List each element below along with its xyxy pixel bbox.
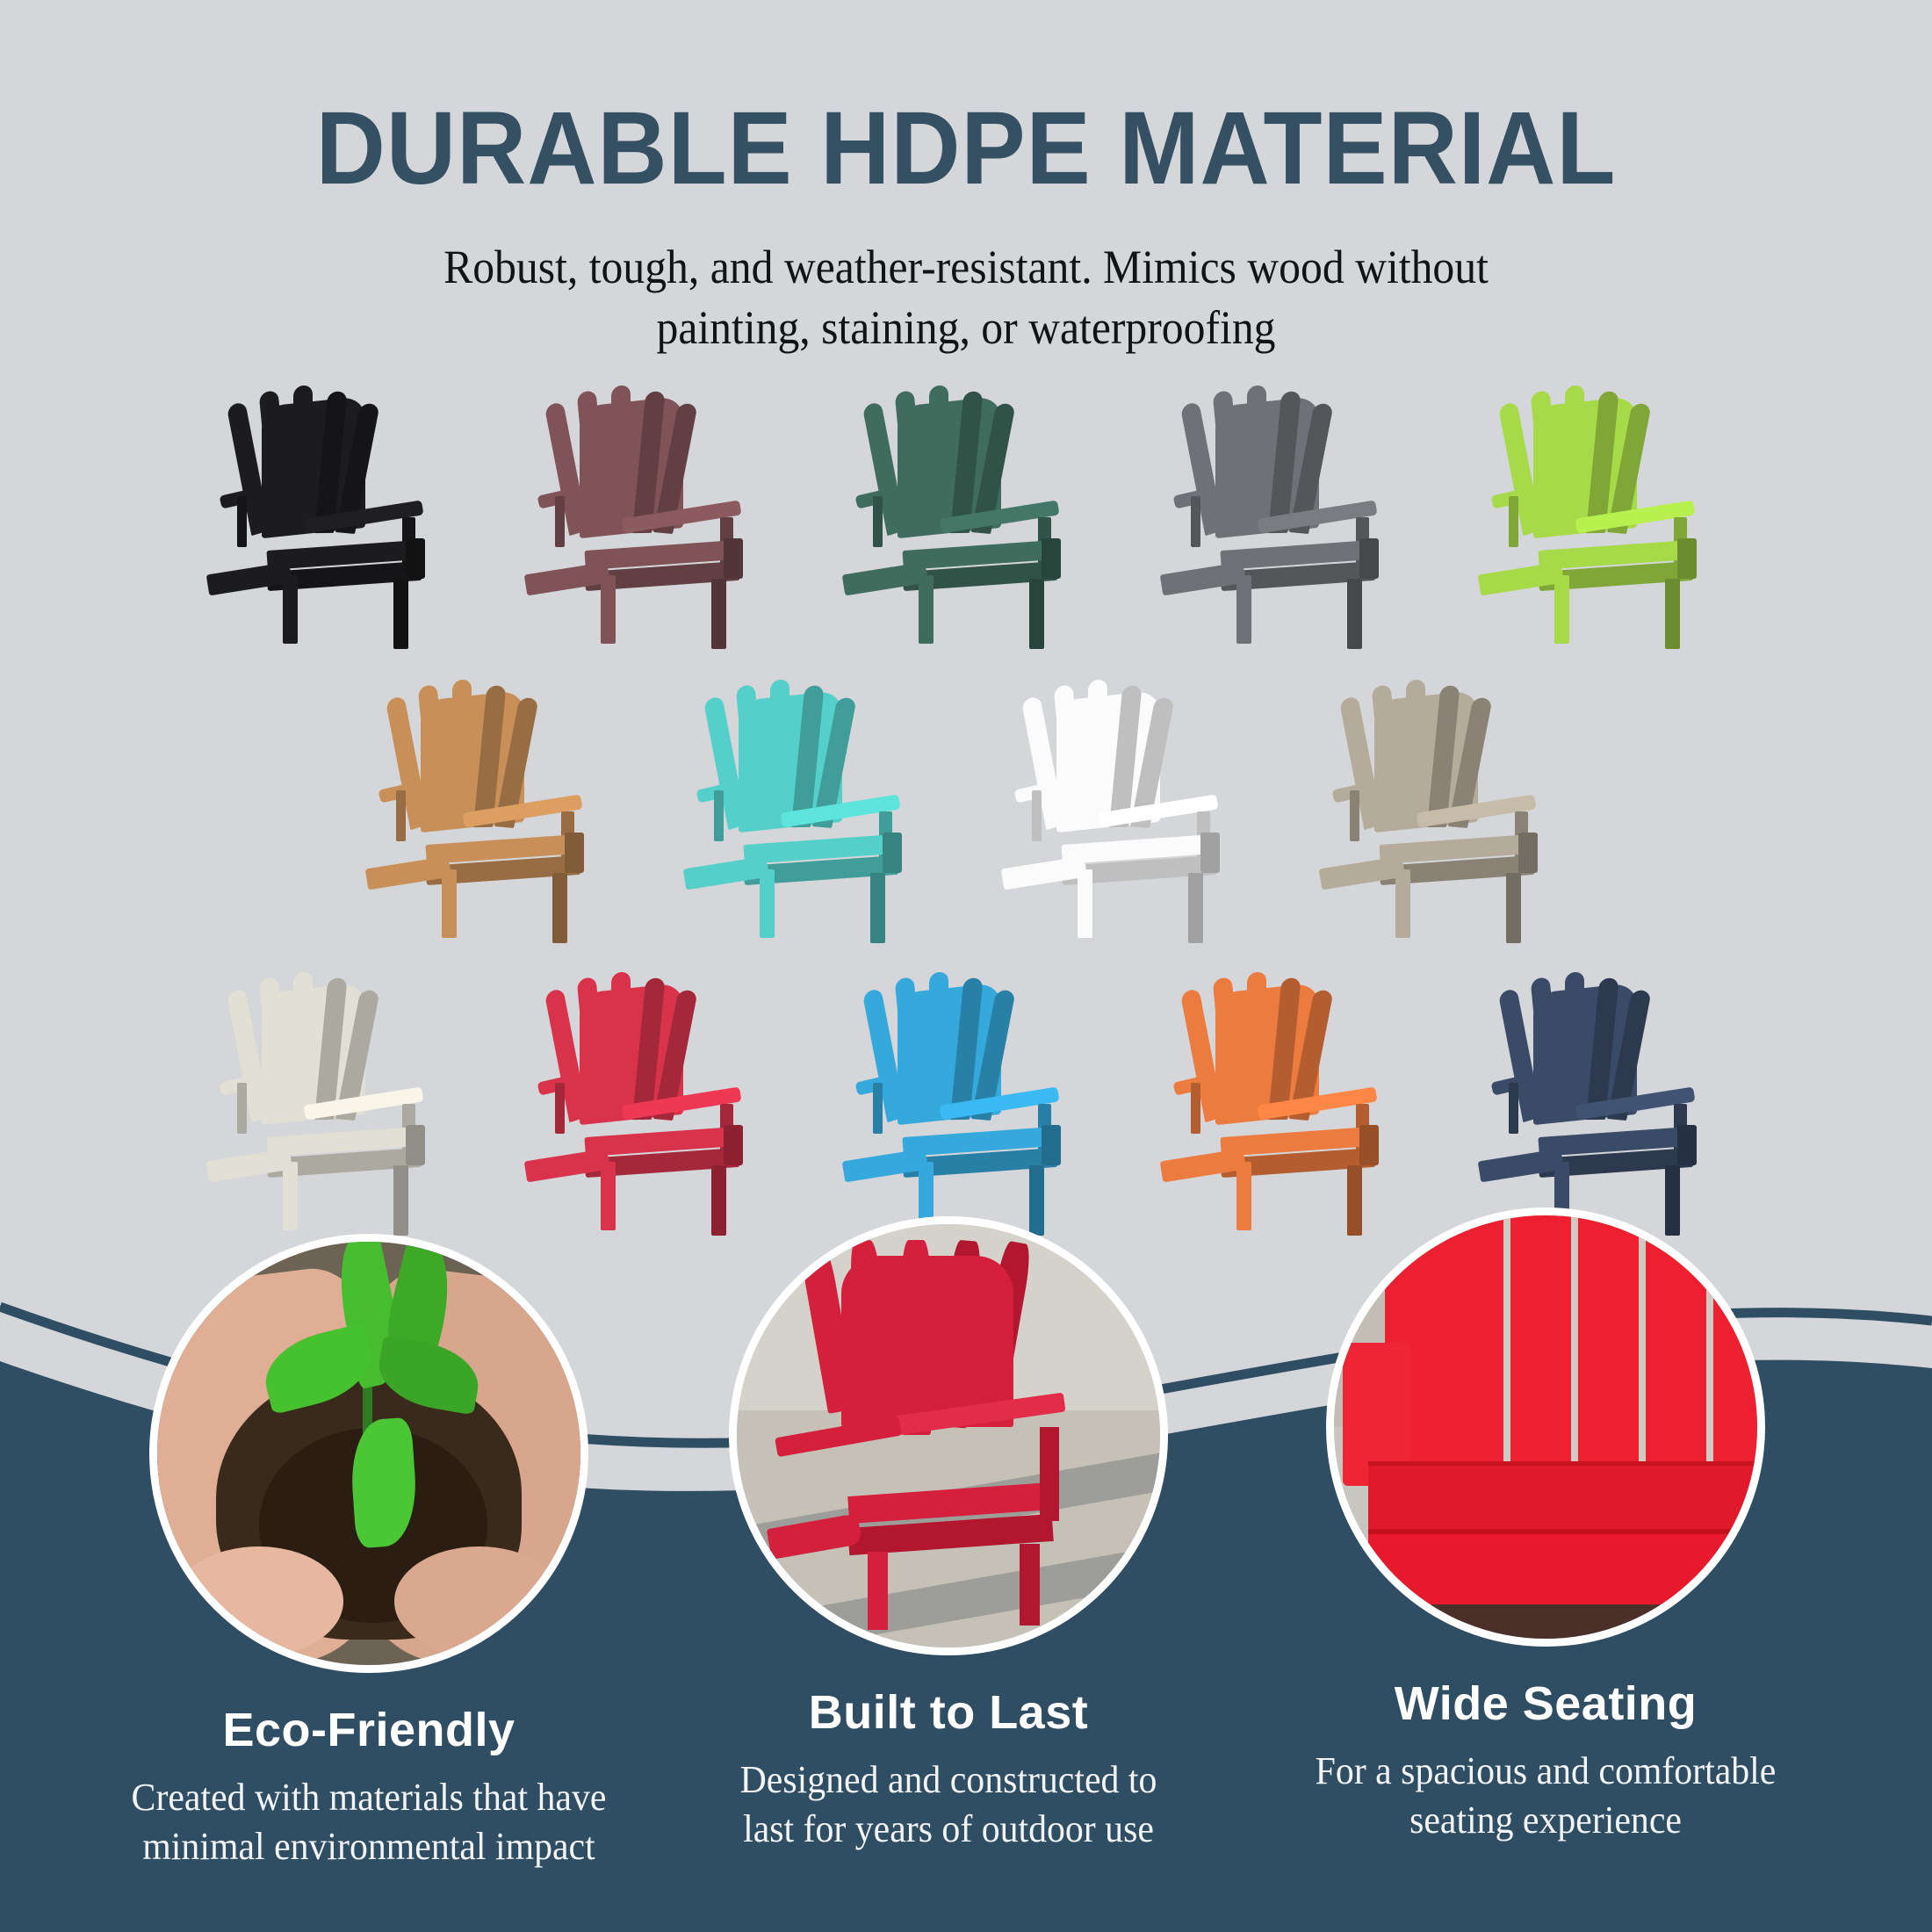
feature-description: Created with materials that have minimal…	[102, 1773, 636, 1872]
chair-back-slat	[1565, 971, 1584, 1121]
chair-swatch-ivory[interactable]	[198, 951, 462, 1215]
chair-back-slat	[611, 385, 631, 534]
chair-swatch-orange[interactable]	[1152, 951, 1416, 1215]
feature-description: Designed and constructed to last for yea…	[681, 1755, 1215, 1855]
chair-arm-support-left	[396, 790, 406, 841]
chair-front-leg	[283, 1162, 298, 1230]
chair-swatch-dark-green[interactable]	[834, 364, 1098, 628]
chair-row-2	[0, 659, 1932, 922]
chair-side-apron	[1042, 1125, 1061, 1165]
chair-back-slat	[611, 971, 631, 1121]
chair-arm-support-left	[237, 1083, 247, 1134]
chair-back-slat	[1406, 679, 1425, 828]
chair-cell-lime-green[interactable]	[1470, 364, 1734, 628]
chair-front-leg	[442, 869, 457, 938]
feature-desc-line-1: Designed and constructed to	[681, 1755, 1215, 1805]
chair-back-slat	[1088, 679, 1107, 828]
photo-chair-back-panel	[841, 1256, 1013, 1427]
chair-rear-leg	[1665, 579, 1680, 649]
chair-cell-orange[interactable]	[1152, 951, 1416, 1215]
chair-folding-runner	[1478, 1149, 1565, 1183]
chair-folding-runner	[1001, 856, 1088, 890]
chair-back-slat	[1247, 385, 1266, 534]
chair-arm-support-left	[237, 496, 247, 547]
chair-side-apron	[1042, 538, 1061, 579]
chair-back-slat	[1565, 385, 1584, 534]
chair-front-leg	[601, 1162, 616, 1230]
page-title: DURABLE HDPE MATERIAL	[68, 97, 1864, 200]
chair-arm-support-left	[1191, 496, 1200, 547]
chair-folding-runner	[842, 1149, 929, 1183]
chair-folding-runner	[1160, 562, 1247, 596]
chair-back-slat	[452, 679, 472, 828]
chair-swatch-white[interactable]	[993, 659, 1257, 922]
feature-photo-red-chair-patio	[729, 1216, 1168, 1655]
chair-cell-white[interactable]	[993, 659, 1257, 922]
chair-folding-runner	[842, 562, 929, 596]
chair-back-slat	[929, 971, 948, 1121]
chair-folding-runner	[365, 856, 452, 890]
chair-swatch-crimson-red[interactable]	[516, 951, 780, 1215]
photo-chair-arm-post	[1040, 1427, 1060, 1520]
chair-side-apron	[1677, 538, 1697, 579]
chair-cell-gray[interactable]	[1152, 364, 1416, 628]
chair-cell-wine-red[interactable]	[516, 364, 780, 628]
chair-back-slat	[1247, 971, 1266, 1121]
chair-arm-support-left	[714, 790, 724, 841]
chair-row-3	[0, 951, 1932, 1215]
chair-rear-leg	[870, 873, 885, 943]
chair-cell-navy-blue[interactable]	[1470, 951, 1734, 1215]
chair-side-apron	[883, 833, 902, 873]
chair-front-leg	[1236, 575, 1251, 644]
chair-folding-runner	[683, 856, 770, 890]
feature-title: Eco-Friendly	[88, 1703, 650, 1757]
header: DURABLE HDPE MATERIAL Robust, tough, and…	[0, 0, 1932, 358]
chair-cell-crimson-red[interactable]	[516, 951, 780, 1215]
chair-cell-black[interactable]	[198, 364, 462, 628]
subtitle-line-1: Robust, tough, and weather-resistant. Mi…	[77, 237, 1855, 298]
chair-cell-turquoise[interactable]	[675, 659, 939, 922]
chair-swatch-gray[interactable]	[1152, 364, 1416, 628]
chair-side-apron	[565, 833, 584, 873]
chair-cell-ivory[interactable]	[198, 951, 462, 1215]
feature-photo-red-seat-closeup	[1326, 1207, 1765, 1647]
feature-built-to-last: Built to Last Designed and constructed t…	[667, 1216, 1229, 1855]
chair-swatch-wine-red[interactable]	[516, 364, 780, 628]
chair-arm-support-left	[1509, 496, 1518, 547]
chair-folding-runner	[1319, 856, 1406, 890]
chair-rear-leg	[1029, 579, 1044, 649]
chair-rear-leg	[1188, 873, 1203, 943]
chair-cell-dark-green[interactable]	[834, 364, 1098, 628]
chair-color-grid	[0, 364, 1932, 1251]
chair-swatch-lime-green[interactable]	[1470, 364, 1734, 628]
feature-photo-seedling	[149, 1234, 588, 1673]
chair-back-slat	[293, 971, 313, 1121]
feature-title: Wide Seating	[1265, 1676, 1827, 1731]
chair-side-apron	[1518, 833, 1538, 873]
chair-arm-support-left	[555, 496, 565, 547]
chair-front-leg	[1395, 869, 1410, 938]
chair-arm-support-left	[1191, 1083, 1200, 1134]
chair-folding-runner	[206, 1149, 293, 1183]
chair-front-leg	[760, 869, 775, 938]
chair-arm-support-left	[1509, 1083, 1518, 1134]
feature-desc-line-1: For a spacious and comfortable	[1279, 1747, 1813, 1796]
chair-rear-leg	[393, 1165, 408, 1236]
chair-arm-support-left	[1350, 790, 1359, 841]
chair-arm-support-left	[873, 496, 883, 547]
chair-front-leg	[601, 575, 616, 644]
chair-cell-sky-blue[interactable]	[834, 951, 1098, 1215]
chair-swatch-black[interactable]	[198, 364, 462, 628]
chair-side-apron	[1359, 538, 1379, 579]
chair-front-leg	[283, 575, 298, 644]
subtitle-line-2: painting, staining, or waterproofing	[77, 298, 1855, 358]
photo-chair-armrest-left	[775, 1417, 902, 1458]
photo-chair-front-leg	[868, 1552, 888, 1630]
feature-desc-line-2: last for years of outdoor use	[681, 1805, 1215, 1854]
chair-arm-support-left	[1032, 790, 1042, 841]
chair-front-leg	[1554, 575, 1569, 644]
feature-desc-line-1: Created with materials that have	[102, 1773, 636, 1822]
chair-arm-support-left	[555, 1083, 565, 1134]
chair-side-apron	[1200, 833, 1220, 873]
chair-swatch-sky-blue[interactable]	[834, 951, 1098, 1215]
chair-folding-runner	[1160, 1149, 1247, 1183]
chair-rear-leg	[1347, 579, 1362, 649]
feature-desc-line-2: minimal environmental impact	[102, 1822, 636, 1871]
chair-row-1	[0, 364, 1932, 628]
chair-side-apron	[724, 1125, 743, 1165]
chair-rear-leg	[1506, 873, 1521, 943]
chair-rear-leg	[711, 579, 726, 649]
chair-front-leg	[919, 575, 934, 644]
feature-description: For a spacious and comfortable seating e…	[1279, 1747, 1813, 1846]
chair-folding-runner	[1478, 562, 1565, 596]
chair-front-leg	[1078, 869, 1092, 938]
feature-wide-seating: Wide Seating For a spacious and comforta…	[1265, 1207, 1827, 1846]
feature-title: Built to Last	[667, 1685, 1229, 1740]
chair-cell-taupe[interactable]	[1311, 659, 1575, 922]
chair-side-apron	[1677, 1125, 1697, 1165]
chair-folding-runner	[524, 1149, 611, 1183]
photo-chair-rear-leg	[1020, 1544, 1040, 1626]
chair-cell-teak[interactable]	[357, 659, 621, 922]
chair-back-slat	[929, 385, 948, 534]
chair-front-leg	[1236, 1162, 1251, 1230]
chair-folding-runner	[524, 562, 611, 596]
chair-folding-runner	[206, 562, 293, 596]
page-subtitle: Robust, tough, and weather-resistant. Mi…	[77, 237, 1855, 358]
chair-swatch-teak[interactable]	[357, 659, 621, 922]
chair-back-slat	[293, 385, 313, 534]
chair-swatch-turquoise[interactable]	[675, 659, 939, 922]
chair-side-apron	[406, 538, 425, 579]
chair-side-apron	[724, 538, 743, 579]
feature-eco-friendly: Eco-Friendly Created with materials that…	[88, 1234, 650, 1872]
chair-side-apron	[406, 1125, 425, 1165]
chair-side-apron	[1359, 1125, 1379, 1165]
chair-arm-support-left	[873, 1083, 883, 1134]
chair-swatch-taupe[interactable]	[1311, 659, 1575, 922]
chair-rear-leg	[552, 873, 567, 943]
chair-rear-leg	[393, 579, 408, 649]
chair-back-slat	[770, 679, 789, 828]
chair-swatch-navy-blue[interactable]	[1470, 951, 1734, 1215]
feature-desc-line-2: seating experience	[1279, 1796, 1813, 1845]
